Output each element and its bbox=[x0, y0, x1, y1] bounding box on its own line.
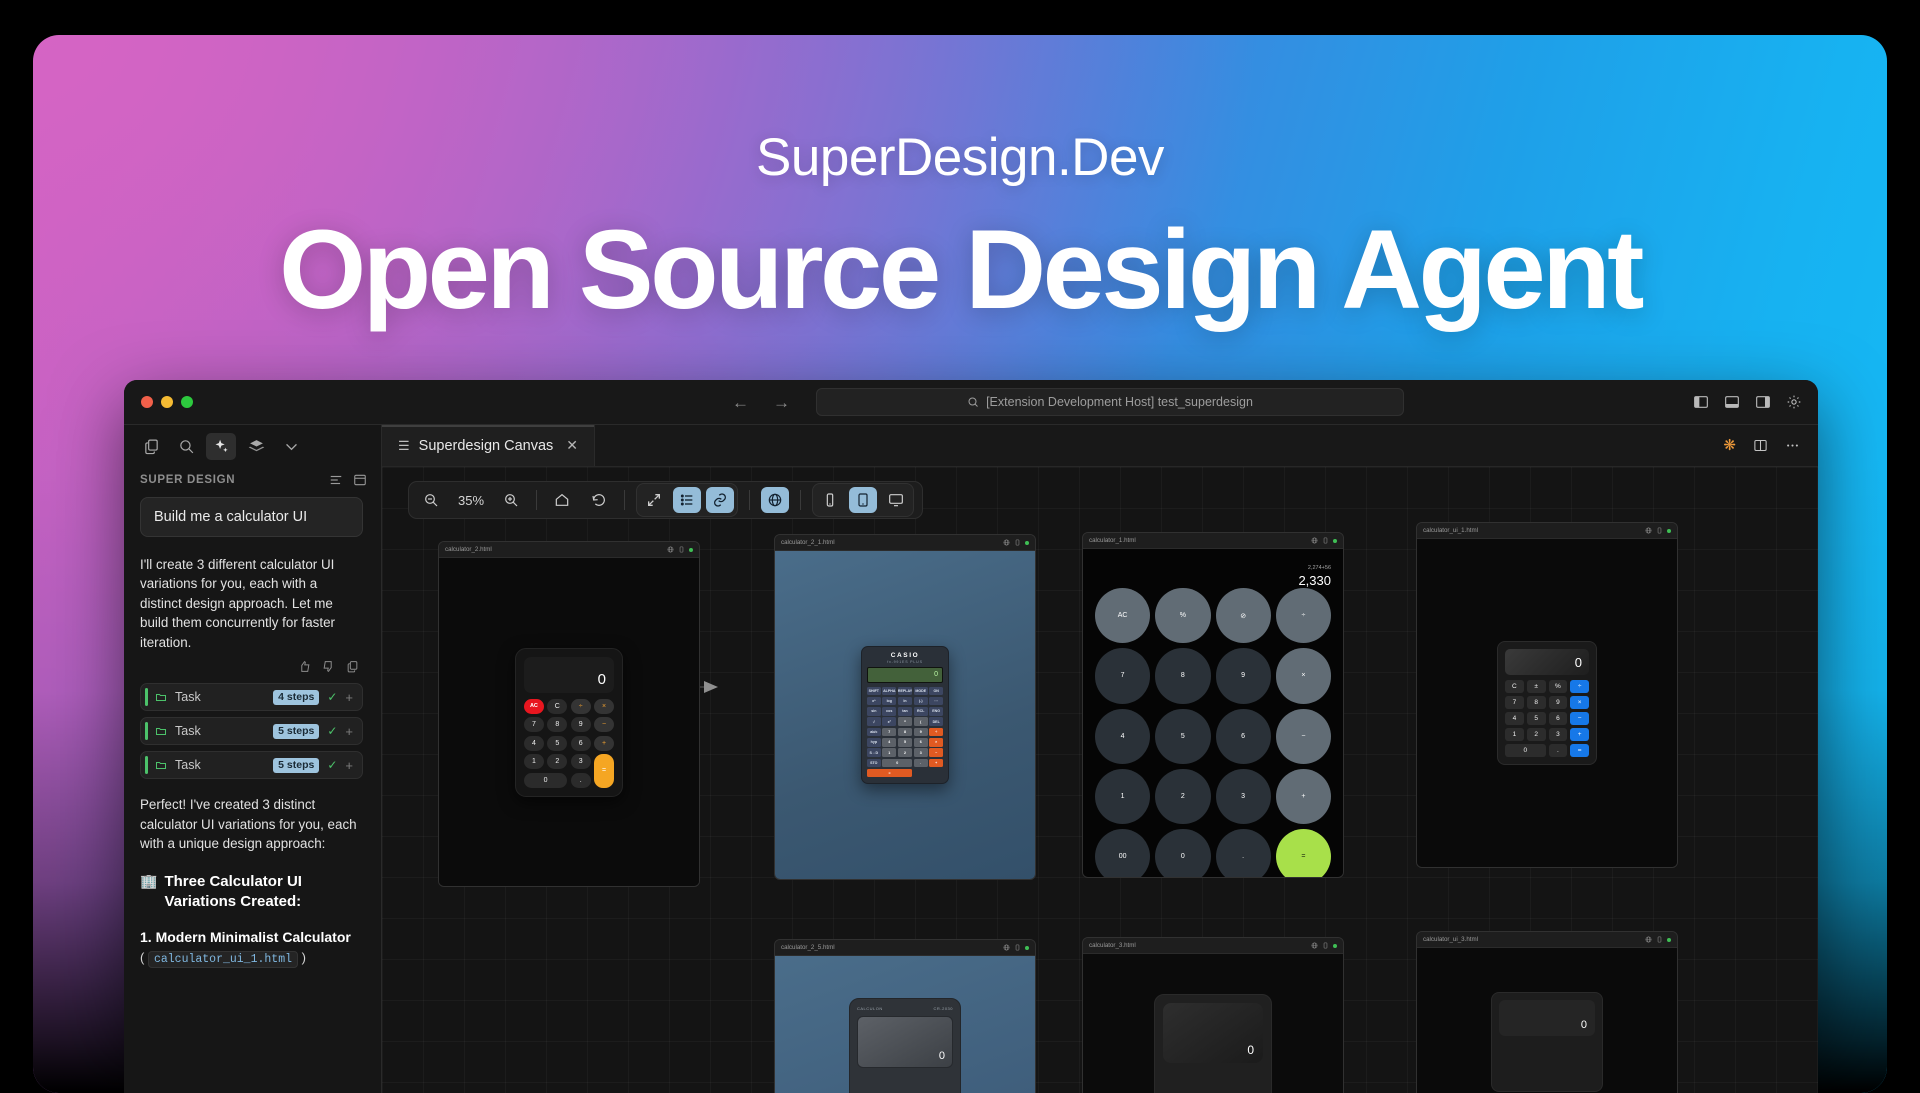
frame-preview: 0 AC C ÷ × 7 8 9 − bbox=[439, 558, 699, 886]
expand-icon[interactable] bbox=[640, 487, 668, 513]
key-equals[interactable]: = bbox=[1276, 829, 1331, 878]
sidebar-section-header: SUPER DESIGN bbox=[124, 467, 381, 495]
command-search-input[interactable]: [Extension Development Host] test_superd… bbox=[816, 388, 1404, 416]
key-0[interactable]: 0 bbox=[1505, 744, 1546, 757]
key-del[interactable]: DEL bbox=[929, 717, 943, 726]
retro-brand-label: CALCULON bbox=[857, 1006, 883, 1011]
key-4[interactable]: 4 bbox=[1095, 709, 1150, 764]
key-divide[interactable]: ÷ bbox=[571, 699, 591, 714]
key-1[interactable]: 1 bbox=[1505, 728, 1524, 741]
artboard-frame[interactable]: calculator_2.html 0 bbox=[438, 541, 700, 887]
key-negative[interactable]: (-) bbox=[914, 697, 928, 706]
key-9[interactable]: 9 bbox=[1549, 696, 1568, 709]
task-row[interactable]: Task 5 steps ✓ + bbox=[140, 717, 363, 745]
key-plus[interactable]: + bbox=[1276, 769, 1331, 824]
task-row[interactable]: Task 5 steps ✓ + bbox=[140, 751, 363, 779]
sidebar-icon-toolbar bbox=[124, 425, 381, 467]
gear-icon[interactable] bbox=[1786, 394, 1802, 410]
sidebar-section-title: SUPER DESIGN bbox=[140, 474, 235, 486]
new-panel-icon[interactable] bbox=[353, 473, 367, 487]
casio-model-label: fx-991ES PLUS bbox=[867, 660, 943, 664]
retro-header: CALCULON CR-2030 bbox=[857, 1006, 953, 1011]
thumbs-down-icon[interactable] bbox=[322, 660, 335, 673]
key-percent[interactable]: % bbox=[1155, 588, 1210, 643]
frame-header: calculator_2.html bbox=[439, 542, 699, 558]
toolbar-divider bbox=[536, 490, 537, 510]
task-check-icon: ✓ bbox=[327, 690, 337, 704]
task-label: Task bbox=[175, 690, 265, 704]
dark-panel-calculator: 0 bbox=[1083, 954, 1343, 1093]
globe-icon[interactable] bbox=[1311, 537, 1318, 544]
user-prompt-bubble[interactable]: Build me a calculator UI bbox=[140, 497, 363, 537]
screenshot-root: SuperDesign.Dev Open Source Design Agent… bbox=[0, 0, 1920, 1093]
key-sd[interactable]: S⇔D bbox=[867, 748, 881, 757]
key-decimal[interactable]: . bbox=[914, 759, 928, 768]
device-icon[interactable] bbox=[1014, 944, 1021, 951]
key-9[interactable]: 9 bbox=[914, 728, 928, 737]
device-icon[interactable] bbox=[1322, 537, 1329, 544]
close-window-button[interactable] bbox=[141, 396, 153, 408]
key-square[interactable]: x² bbox=[882, 717, 896, 726]
frame-name-label: calculator_1.html bbox=[1089, 537, 1307, 544]
close-icon[interactable]: ✕ bbox=[566, 437, 578, 454]
key-equals[interactable]: = bbox=[867, 769, 912, 778]
copy-icon[interactable] bbox=[346, 660, 359, 673]
globe-icon[interactable] bbox=[1645, 527, 1652, 534]
key-1[interactable]: 1 bbox=[524, 754, 544, 769]
paren-open: ( bbox=[140, 950, 144, 965]
globe-icon[interactable] bbox=[667, 546, 674, 553]
folder-icon bbox=[155, 759, 167, 771]
key-4[interactable]: 4 bbox=[524, 736, 544, 751]
key-2[interactable]: 2 bbox=[1155, 769, 1210, 824]
key-shift[interactable]: SHIFT bbox=[867, 687, 881, 696]
live-status-dot bbox=[1025, 541, 1029, 545]
retro-calculator: CALCULON CR-2030 0 bbox=[775, 956, 1035, 1093]
zoom-in-icon[interactable] bbox=[497, 487, 525, 513]
superdesign-sidebar: SUPER DESIGN Build me a calculator UI I'… bbox=[124, 425, 382, 1093]
frame-name-label: calculator_2.html bbox=[445, 546, 663, 553]
task-steps-badge: 5 steps bbox=[273, 758, 319, 773]
calculator-expression: 2,274+56 bbox=[1095, 565, 1331, 571]
artboard-frame[interactable]: calculator_ui_3.html 0 bbox=[1416, 931, 1678, 1093]
task-expand-icon[interactable]: + bbox=[345, 690, 353, 705]
globe-icon[interactable] bbox=[1003, 944, 1010, 951]
navigation-arrows: ← → bbox=[732, 394, 790, 411]
task-label: Task bbox=[175, 724, 265, 738]
tablet-icon[interactable] bbox=[849, 487, 877, 513]
window-titlebar: ← → [Extension Development Host] test_su… bbox=[124, 380, 1818, 425]
device-icon[interactable] bbox=[1322, 942, 1329, 949]
sparkle-icon[interactable] bbox=[206, 433, 236, 460]
globe-icon[interactable] bbox=[1003, 539, 1010, 546]
paren-close: ) bbox=[302, 950, 306, 965]
sparkle-star-icon[interactable]: ❋ bbox=[1723, 438, 1736, 453]
key-backspace[interactable]: ⊘ bbox=[1216, 588, 1271, 643]
blue-accent-calculator: 0 C ± % ÷ 7 8 9 × bbox=[1417, 539, 1677, 867]
live-status-dot bbox=[689, 548, 693, 552]
traffic-lights bbox=[124, 396, 193, 408]
key-7[interactable]: 7 bbox=[882, 728, 896, 737]
key-5[interactable]: 5 bbox=[547, 736, 567, 751]
dark-rounded-calculator: 0 bbox=[1417, 948, 1677, 1093]
device-mode-group bbox=[812, 483, 914, 517]
editor-tab-actions: ❋ bbox=[1723, 425, 1818, 466]
key-6[interactable]: 6 bbox=[571, 736, 591, 751]
frame-header: calculator_2_5.html bbox=[775, 940, 1035, 956]
key-double-zero[interactable]: 00 bbox=[1095, 829, 1150, 878]
frame-preview: 0 C ± % ÷ 7 8 9 × bbox=[1417, 539, 1677, 867]
artboard-frame[interactable]: calculator_2_1.html CASIO bbox=[774, 534, 1036, 880]
key-3[interactable]: 3 bbox=[1549, 728, 1568, 741]
building-emoji-icon: 🏢 bbox=[140, 872, 157, 890]
calculator-keypad: AC C ÷ × 7 8 9 − 4 5 bbox=[524, 699, 614, 788]
casio-brand-label: CASIO bbox=[867, 652, 943, 659]
key-4[interactable]: 4 bbox=[882, 738, 896, 747]
frame-preview: 0 bbox=[1417, 948, 1677, 1093]
forward-arrow-icon[interactable]: → bbox=[773, 394, 790, 411]
key-ln[interactable]: ln bbox=[898, 697, 912, 706]
toolbar-divider bbox=[749, 490, 750, 510]
key-4[interactable]: 4 bbox=[1505, 712, 1524, 725]
key-multiply[interactable]: × bbox=[594, 699, 614, 714]
toolbar-divider bbox=[800, 490, 801, 510]
key-cos[interactable]: cos bbox=[882, 707, 896, 716]
key-divide[interactable]: ÷ bbox=[929, 728, 943, 737]
key-eng[interactable]: ENG bbox=[929, 707, 943, 716]
artboard-frame[interactable]: calculator_2_5.html CA bbox=[774, 939, 1036, 1093]
editor-area: ☰ Superdesign Canvas ✕ ❋ bbox=[382, 425, 1818, 1093]
vscode-window: ← → [Extension Development Host] test_su… bbox=[124, 380, 1818, 1093]
frame-actions bbox=[1003, 944, 1029, 951]
key-9[interactable]: 9 bbox=[1216, 648, 1271, 703]
artboard-frame[interactable]: calculator_3.html 0 bbox=[1082, 937, 1344, 1093]
key-sin[interactable]: sin bbox=[867, 707, 881, 716]
key-misc[interactable]: ··· bbox=[929, 697, 943, 706]
frame-actions bbox=[1645, 936, 1671, 943]
chevron-down-icon[interactable] bbox=[276, 433, 306, 460]
assistant-message-2: Perfect! I've created 3 distinct calcula… bbox=[140, 795, 357, 853]
key-8[interactable]: 8 bbox=[1155, 648, 1210, 703]
layers-icon[interactable] bbox=[241, 433, 271, 460]
key-3[interactable]: 3 bbox=[1216, 769, 1271, 824]
canvas-tab-icon: ☰ bbox=[398, 438, 410, 454]
key-log[interactable]: log bbox=[882, 697, 896, 706]
key-3[interactable]: 3 bbox=[571, 754, 591, 769]
frame-header: calculator_1.html bbox=[1083, 533, 1343, 549]
key-decimal[interactable]: . bbox=[1216, 829, 1271, 878]
frame-actions bbox=[667, 546, 693, 553]
key-0[interactable]: 0 bbox=[882, 759, 912, 768]
calculator-display: 0 bbox=[524, 657, 614, 693]
toggle-primary-sidebar-icon[interactable] bbox=[1693, 394, 1709, 410]
folder-icon bbox=[155, 725, 167, 737]
key-1[interactable]: 1 bbox=[882, 748, 896, 757]
folder-icon bbox=[155, 691, 167, 703]
key-divide[interactable]: ÷ bbox=[1570, 680, 1589, 693]
key-5[interactable]: 5 bbox=[898, 738, 912, 747]
key-5[interactable]: 5 bbox=[1155, 709, 1210, 764]
window-body: SUPER DESIGN Build me a calculator UI I'… bbox=[124, 425, 1818, 1093]
frame-preview: CALCULON CR-2030 0 bbox=[775, 956, 1035, 1093]
toggle-secondary-sidebar-icon[interactable] bbox=[1755, 394, 1771, 410]
frame-actions bbox=[1311, 537, 1337, 544]
key-equals[interactable]: = bbox=[594, 754, 614, 788]
key-multiply[interactable]: × bbox=[1276, 648, 1331, 703]
key-7[interactable]: 7 bbox=[524, 717, 544, 732]
calculator-display: 0 bbox=[857, 1016, 953, 1068]
device-icon[interactable] bbox=[1656, 527, 1663, 534]
artboard-frame[interactable]: calculator_ui_1.html 0 bbox=[1416, 522, 1678, 868]
frame-name-label: calculator_2_1.html bbox=[781, 539, 999, 546]
key-multiply[interactable]: × bbox=[1570, 696, 1589, 709]
key-9[interactable]: 9 bbox=[571, 717, 591, 732]
minimalist-calculator: 0 AC C ÷ × 7 8 9 − bbox=[439, 558, 699, 886]
copy-files-icon[interactable] bbox=[136, 433, 166, 460]
key-decimal[interactable]: . bbox=[1549, 744, 1568, 757]
key-7[interactable]: 7 bbox=[1095, 648, 1150, 703]
casio-keypad: SHIFT ALPHA REPLAY MODE ON xⁿ log ln (- bbox=[867, 687, 943, 778]
split-editor-icon[interactable] bbox=[1753, 438, 1768, 453]
calculator-display: 0 bbox=[1163, 1003, 1263, 1063]
frame-header: calculator_ui_1.html bbox=[1417, 523, 1677, 539]
globe-icon[interactable] bbox=[1311, 942, 1318, 949]
key-8[interactable]: 8 bbox=[898, 728, 912, 737]
markdown-heading: 🏢 Three Calculator UI Variations Created… bbox=[140, 872, 357, 913]
mobile-icon[interactable] bbox=[816, 487, 844, 513]
key-rcl[interactable]: RCL bbox=[914, 707, 928, 716]
task-steps-badge: 4 steps bbox=[273, 690, 319, 705]
search-value: [Extension Development Host] test_superd… bbox=[986, 395, 1253, 409]
task-check-icon: ✓ bbox=[327, 724, 337, 738]
device-icon[interactable] bbox=[678, 546, 685, 553]
key-ac[interactable]: AC bbox=[1095, 588, 1150, 643]
casio-display: 0 bbox=[867, 667, 943, 683]
key-8[interactable]: 8 bbox=[547, 717, 567, 732]
sidebar-header-actions bbox=[329, 473, 367, 487]
globe-icon[interactable] bbox=[1645, 936, 1652, 943]
calculator-display: 0 bbox=[1505, 649, 1589, 675]
live-status-dot bbox=[1333, 539, 1337, 543]
round-key-calculator: 2,274+56 2,330 AC % ⊘ ÷ 7 8 9 bbox=[1083, 549, 1343, 877]
list-icon[interactable] bbox=[673, 487, 701, 513]
key-plus[interactable]: + bbox=[1570, 728, 1589, 741]
key-on[interactable]: ON bbox=[929, 687, 943, 696]
zoom-out-icon[interactable] bbox=[417, 487, 445, 513]
key-6[interactable]: 6 bbox=[914, 738, 928, 747]
desktop-icon[interactable] bbox=[882, 487, 910, 513]
key-minus[interactable]: − bbox=[929, 748, 943, 757]
key-percent[interactable]: % bbox=[1549, 680, 1568, 693]
task-expand-icon[interactable]: + bbox=[345, 724, 353, 739]
superdesign-canvas[interactable]: 35% bbox=[382, 467, 1818, 1093]
key-decimal[interactable]: . bbox=[571, 773, 591, 788]
key-plus[interactable]: + bbox=[929, 759, 943, 768]
tab-label: Superdesign Canvas bbox=[419, 438, 554, 454]
globe-icon[interactable] bbox=[761, 487, 789, 513]
calculator-keypad: AC % ⊘ ÷ 7 8 9 × 4 5 bbox=[1095, 588, 1331, 878]
frame-name-label: calculator_2_5.html bbox=[781, 944, 999, 951]
key-2[interactable]: 2 bbox=[1527, 728, 1546, 741]
task-row[interactable]: Task 4 steps ✓ + bbox=[140, 683, 363, 711]
frame-name-label: calculator_ui_3.html bbox=[1423, 936, 1641, 943]
key-minus[interactable]: − bbox=[1276, 709, 1331, 764]
history-list-icon[interactable] bbox=[329, 473, 343, 487]
task-steps-badge: 5 steps bbox=[273, 724, 319, 739]
key-multiply[interactable]: × bbox=[929, 738, 943, 747]
inline-code-filename[interactable]: calculator_ui_1.html bbox=[148, 951, 298, 968]
key-c[interactable]: C bbox=[547, 699, 567, 714]
key-2[interactable]: 2 bbox=[898, 748, 912, 757]
frame-actions bbox=[1645, 527, 1671, 534]
message-reactions bbox=[124, 652, 381, 673]
key-0[interactable]: 0 bbox=[1155, 829, 1210, 878]
key-7[interactable]: 7 bbox=[1505, 696, 1524, 709]
key-plus[interactable]: + bbox=[594, 736, 614, 751]
markdown-heading-text: Three Calculator UI Variations Created: bbox=[164, 872, 357, 913]
frame-name-label: calculator_3.html bbox=[1089, 942, 1307, 949]
frame-name-label: calculator_ui_1.html bbox=[1423, 527, 1641, 534]
key-2[interactable]: 2 bbox=[547, 754, 567, 769]
key-6[interactable]: 6 bbox=[1216, 709, 1271, 764]
key-c[interactable]: C bbox=[1505, 680, 1524, 693]
task-expand-icon[interactable]: + bbox=[345, 758, 353, 773]
thumbs-up-icon[interactable] bbox=[298, 660, 311, 673]
frame-actions bbox=[1311, 942, 1337, 949]
live-status-dot bbox=[1025, 946, 1029, 950]
key-fraction[interactable]: ab/c bbox=[867, 728, 881, 737]
search-icon bbox=[967, 396, 979, 408]
key-5[interactable]: 5 bbox=[1527, 712, 1546, 725]
device-icon[interactable] bbox=[1656, 936, 1663, 943]
editor-tabbar: ☰ Superdesign Canvas ✕ ❋ bbox=[382, 425, 1818, 467]
calculator-keypad: C ± % ÷ 7 8 9 × 4 5 bbox=[1505, 680, 1589, 757]
key-minus[interactable]: − bbox=[1570, 712, 1589, 725]
minimize-window-button[interactable] bbox=[161, 396, 173, 408]
key-alpha[interactable]: ALPHA bbox=[882, 687, 896, 696]
key-1[interactable]: 1 bbox=[1095, 769, 1150, 824]
assistant-message-1: I'll create 3 different calculator UI va… bbox=[140, 555, 357, 652]
toggle-panel-icon[interactable] bbox=[1724, 394, 1740, 410]
live-status-dot bbox=[1667, 529, 1671, 533]
frame-actions bbox=[1003, 539, 1029, 546]
titlebar-actions bbox=[1693, 394, 1802, 410]
key-caret[interactable]: ^ bbox=[898, 717, 912, 726]
reset-icon[interactable] bbox=[585, 487, 613, 513]
calculator-result: 2,330 bbox=[1095, 573, 1331, 588]
frame-header: calculator_ui_3.html bbox=[1417, 932, 1677, 948]
key-sqrt[interactable]: √ bbox=[867, 717, 881, 726]
key-replay[interactable]: REPLAY bbox=[898, 687, 912, 696]
frame-header: calculator_3.html bbox=[1083, 938, 1343, 954]
view-mode-group bbox=[636, 483, 738, 517]
task-label: Task bbox=[175, 758, 265, 772]
key-divide[interactable]: ÷ bbox=[1276, 588, 1331, 643]
link-icon[interactable] bbox=[706, 487, 734, 513]
search-icon[interactable] bbox=[171, 433, 201, 460]
home-icon[interactable] bbox=[548, 487, 576, 513]
key-minus[interactable]: − bbox=[594, 717, 614, 732]
key-tan[interactable]: tan bbox=[898, 707, 912, 716]
key-3[interactable]: 3 bbox=[914, 748, 928, 757]
key-8[interactable]: 8 bbox=[1527, 696, 1546, 709]
toolbar-divider bbox=[624, 490, 625, 510]
hero-brand-title: SuperDesign.Dev bbox=[33, 127, 1887, 188]
key-6[interactable]: 6 bbox=[1549, 712, 1568, 725]
canvas-toolbar: 35% bbox=[408, 481, 923, 519]
key-plus-minus[interactable]: ± bbox=[1527, 680, 1546, 693]
key-ac[interactable]: AC bbox=[524, 699, 544, 714]
frame-preview: 2,274+56 2,330 AC % ⊘ ÷ 7 8 9 bbox=[1083, 549, 1343, 877]
calculator-display: 0 bbox=[1499, 1000, 1595, 1036]
live-status-dot bbox=[1667, 938, 1671, 942]
markdown-subheading: 1. Modern Minimalist Calculator bbox=[140, 928, 357, 947]
maximize-window-button[interactable] bbox=[181, 396, 193, 408]
task-check-icon: ✓ bbox=[327, 758, 337, 772]
zoom-level-label: 35% bbox=[454, 493, 488, 508]
key-equals[interactable]: = bbox=[1570, 744, 1589, 757]
markdown-code-line: ( calculator_ui_1.html ) bbox=[140, 950, 357, 966]
key-hyp[interactable]: hyp bbox=[867, 738, 881, 747]
tab-superdesign-canvas[interactable]: ☰ Superdesign Canvas ✕ bbox=[382, 425, 595, 466]
back-arrow-icon[interactable]: ← bbox=[732, 394, 749, 411]
key-mode[interactable]: MODE bbox=[914, 687, 928, 696]
casio-calculator: CASIO fx-991ES PLUS 0 SHIFT ALPHA REPLAY… bbox=[775, 551, 1035, 879]
retro-model-label: CR-2030 bbox=[933, 1006, 953, 1011]
hero-headline: Open Source Design Agent bbox=[33, 213, 1887, 327]
key-sto[interactable]: STO bbox=[867, 759, 881, 768]
frame-preview: CASIO fx-991ES PLUS 0 SHIFT ALPHA REPLAY… bbox=[775, 551, 1035, 879]
frame-preview: 0 bbox=[1083, 954, 1343, 1093]
artboard-frame[interactable]: calculator_1.html 2,274+56 2,330 bbox=[1082, 532, 1344, 878]
more-actions-icon[interactable] bbox=[1785, 438, 1800, 453]
key-paren[interactable]: ( bbox=[914, 717, 928, 726]
live-status-dot bbox=[1333, 944, 1337, 948]
key-0[interactable]: 0 bbox=[524, 773, 567, 788]
key-power[interactable]: xⁿ bbox=[867, 697, 881, 706]
frame-header: calculator_2_1.html bbox=[775, 535, 1035, 551]
device-icon[interactable] bbox=[1014, 539, 1021, 546]
task-list: Task 4 steps ✓ + Task 5 steps ✓ + bbox=[140, 683, 363, 779]
